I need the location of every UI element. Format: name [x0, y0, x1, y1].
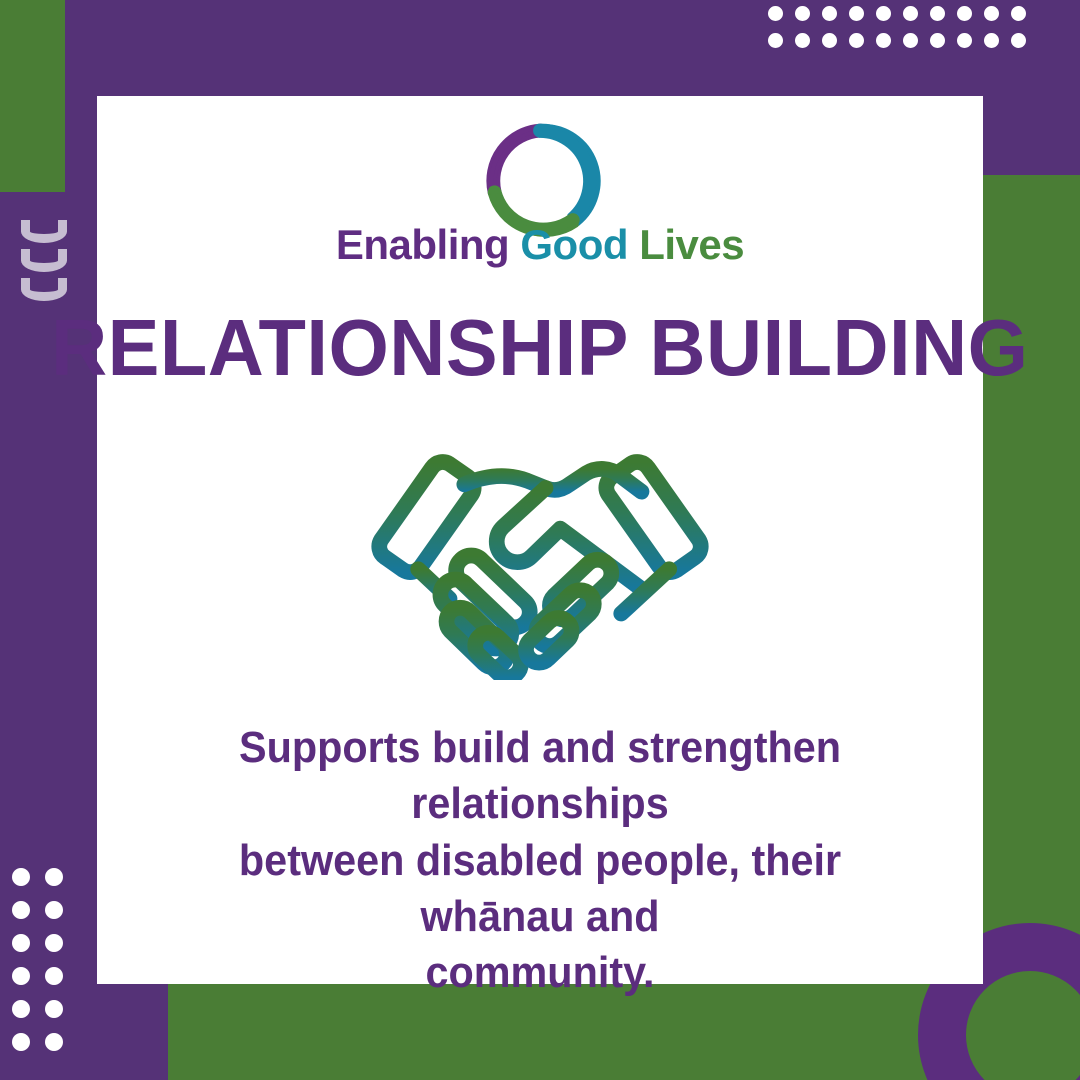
decorative-dot — [45, 967, 63, 985]
decorative-dot — [930, 33, 945, 48]
body-text: Supports build and strengthen relationsh… — [159, 720, 920, 1002]
arc-shape-3 — [21, 278, 67, 301]
green-block-top-left — [0, 0, 65, 192]
decorative-dot — [957, 33, 972, 48]
decorative-dot — [45, 1033, 63, 1051]
handshake-icon — [350, 440, 730, 680]
decorative-dot — [930, 6, 945, 21]
enabling-good-lives-circle-logo-icon — [477, 118, 603, 218]
page-title: RELATIONSHIP BUILDING — [51, 308, 1028, 388]
green-block-right — [983, 175, 1080, 985]
decorative-dot — [1011, 33, 1026, 48]
decorative-dot — [768, 6, 783, 21]
decorative-dot — [1011, 6, 1026, 21]
arc-shape-1 — [21, 220, 67, 243]
arc-shape-2 — [21, 249, 67, 272]
content-card: Enabling Good Lives RELATIONSHIP BUILDIN… — [97, 96, 983, 984]
logo-word-good: Good — [520, 221, 628, 268]
logo-word-lives: Lives — [639, 221, 744, 268]
body-text-line: between disabled people, their whānau an… — [159, 833, 920, 946]
dot-grid-top-right — [768, 6, 1038, 60]
arc-stack-left — [21, 220, 67, 310]
decorative-dot — [12, 1000, 30, 1018]
decorative-dot — [45, 901, 63, 919]
decorative-dot — [822, 33, 837, 48]
decorative-dot — [849, 6, 864, 21]
decorative-dot — [45, 1000, 63, 1018]
dot-grid-bottom-left — [12, 868, 78, 1066]
decorative-dot — [795, 6, 810, 21]
decorative-dot — [45, 868, 63, 886]
decorative-dot — [903, 6, 918, 21]
decorative-dot — [12, 934, 30, 952]
decorative-dot — [876, 6, 891, 21]
decorative-dot — [12, 1033, 30, 1051]
decorative-dot — [876, 33, 891, 48]
poster-canvas: Enabling Good Lives RELATIONSHIP BUILDIN… — [0, 0, 1080, 1080]
decorative-dot — [822, 6, 837, 21]
body-text-line: Supports build and strengthen relationsh… — [159, 720, 920, 833]
logo: Enabling Good Lives — [336, 118, 744, 266]
decorative-dot — [768, 33, 783, 48]
body-text-line: community. — [159, 945, 920, 1001]
logo-word-enabling: Enabling — [336, 221, 509, 268]
decorative-dot — [984, 6, 999, 21]
decorative-dot — [957, 6, 972, 21]
decorative-dot — [795, 33, 810, 48]
logo-wordmark: Enabling Good Lives — [336, 224, 744, 266]
decorative-dot — [12, 868, 30, 886]
decorative-dot — [984, 33, 999, 48]
decorative-dot — [12, 901, 30, 919]
decorative-dot — [903, 33, 918, 48]
decorative-dot — [849, 33, 864, 48]
decorative-dot — [45, 934, 63, 952]
decorative-dot — [12, 967, 30, 985]
